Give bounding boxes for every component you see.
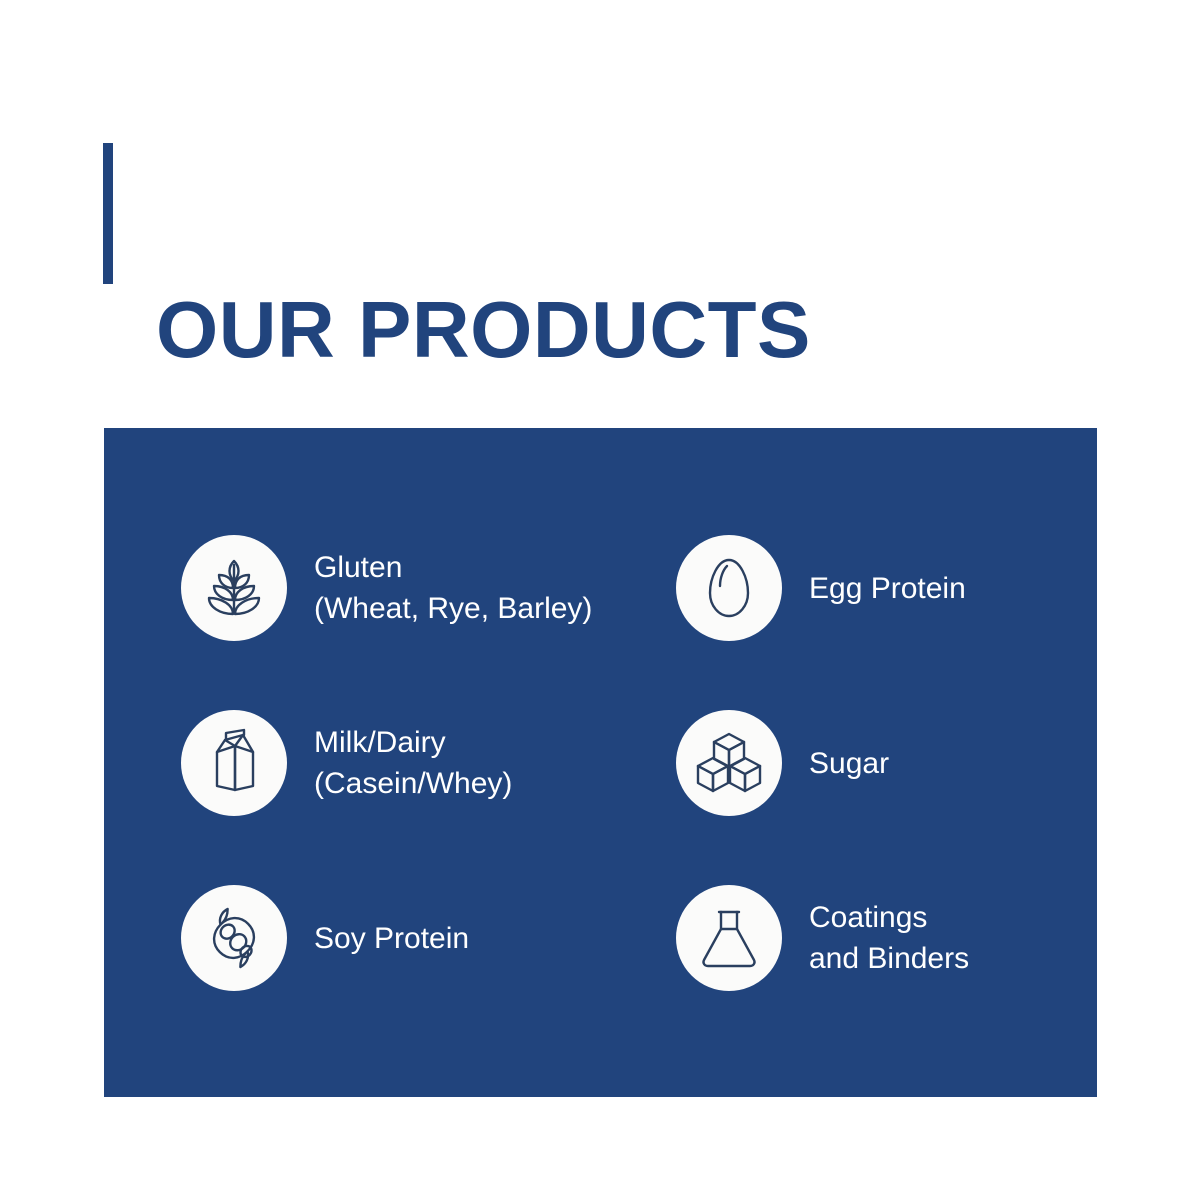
flask-icon (676, 885, 782, 991)
free-of-panel: Gluten (Wheat, Rye, Barley) Egg Protein (104, 428, 1097, 1097)
list-item-label: Milk/Dairy (Casein/Whey) (314, 722, 512, 804)
list-item-label: Sugar (809, 743, 889, 784)
list-item-egg-protein: Egg Protein (676, 535, 1076, 641)
list-item-milk-dairy: Milk/Dairy (Casein/Whey) (181, 710, 641, 816)
heading-line-1: OUR PRODUCTS (156, 292, 811, 368)
list-item-label: Gluten (Wheat, Rye, Barley) (314, 547, 592, 629)
list-item-sugar: Sugar (676, 710, 1076, 816)
list-item-gluten: Gluten (Wheat, Rye, Barley) (181, 535, 641, 641)
list-item-coatings-and-binders: Coatings and Binders (676, 885, 1076, 991)
soybean-pod-icon (181, 885, 287, 991)
milk-carton-icon (181, 710, 287, 816)
wheat-icon (181, 535, 287, 641)
sugar-cubes-icon (676, 710, 782, 816)
list-item-label: Egg Protein (809, 568, 966, 609)
list-item-label: Soy Protein (314, 918, 469, 959)
egg-icon (676, 535, 782, 641)
list-item-label: Coatings and Binders (809, 897, 969, 979)
list-item-soy-protein: Soy Protein (181, 885, 641, 991)
heading-accent-bar (103, 143, 113, 284)
free-of-items-grid: Gluten (Wheat, Rye, Barley) Egg Protein (104, 428, 1097, 1097)
